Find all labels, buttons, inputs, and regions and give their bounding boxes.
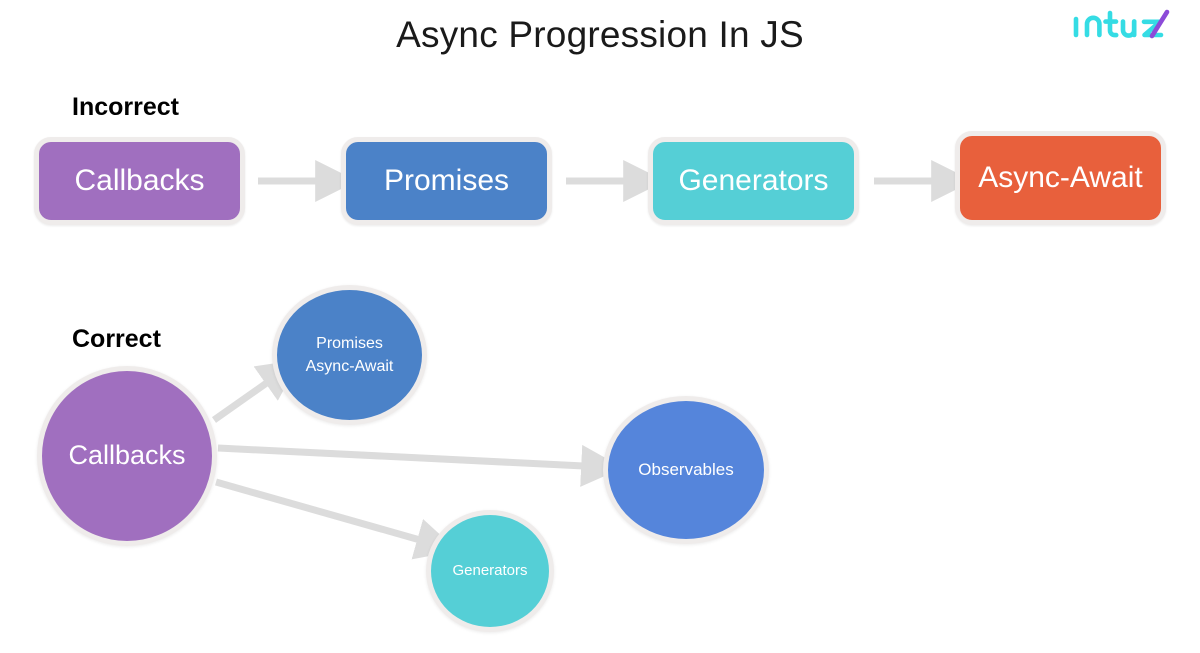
arrow-callbacks-promisesasync	[214, 382, 268, 420]
node-box-callbacks-label: Callbacks	[74, 164, 204, 198]
node-box-promises-label: Promises	[384, 164, 509, 198]
node-box-generators-label: Generators	[678, 164, 828, 198]
section-label-incorrect: Incorrect	[72, 93, 179, 122]
page-title: Async Progression In JS	[0, 14, 1200, 56]
arrow-callbacks-generators	[216, 482, 420, 540]
node-circle-promises-async-await[interactable]: Promises Async-Await	[272, 285, 427, 425]
node-circle-observables-label: Observables	[638, 458, 733, 483]
node-box-promises[interactable]: Promises	[341, 137, 552, 225]
node-circle-generators[interactable]: Generators	[426, 510, 554, 632]
diagram-canvas: Async Progression In JS	[0, 0, 1200, 653]
arrow-callbacks-observables	[218, 448, 584, 466]
node-box-callbacks[interactable]: Callbacks	[34, 137, 245, 225]
node-circle-observables[interactable]: Observables	[603, 396, 769, 544]
arrow-layer	[0, 0, 1200, 653]
node-circle-callbacks-label: Callbacks	[68, 436, 185, 475]
node-box-generators[interactable]: Generators	[648, 137, 859, 225]
node-box-async-await[interactable]: Async-Await	[955, 131, 1166, 225]
section-label-correct: Correct	[72, 325, 161, 354]
node-circle-generators-label: Generators	[452, 560, 527, 582]
node-box-async-await-label: Async-Await	[978, 161, 1143, 195]
intuz-logo	[1072, 8, 1182, 42]
node-circle-async-await-label: Async-Await	[306, 355, 394, 378]
node-circle-callbacks[interactable]: Callbacks	[37, 366, 217, 546]
node-circle-promises-label: Promises	[316, 332, 383, 355]
